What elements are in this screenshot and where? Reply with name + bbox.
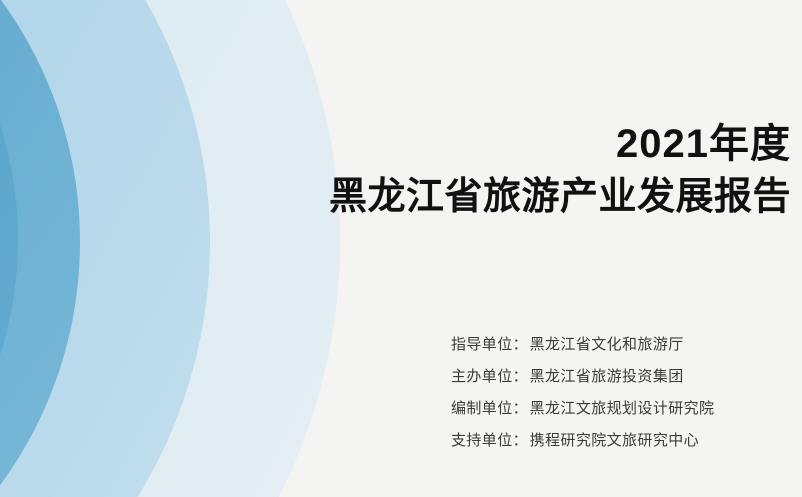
credits-block: 指导单位 ： 黑龙江省文化和旅游厅 主办单位 ： 黑龙江省旅游投资集团 编制单位… <box>451 337 714 448</box>
credit-row-supporter: 支持单位 ： 携程研究院文旅研究中心 <box>451 433 714 448</box>
credit-row-guidance: 指导单位 ： 黑龙江省文化和旅游厅 <box>451 337 714 352</box>
decorative-arc-inner <box>0 0 80 497</box>
credit-colon: ： <box>513 433 528 448</box>
credit-label: 指导单位 <box>451 337 513 352</box>
credit-label: 支持单位 <box>451 433 513 448</box>
report-cover-slide: 2021年度 黑龙江省旅游产业发展报告 指导单位 ： 黑龙江省文化和旅游厅 主办… <box>0 0 802 497</box>
credit-value: 黑龙江省旅游投资集团 <box>530 369 684 384</box>
decorative-arc-middle <box>0 0 210 497</box>
credit-value: 携程研究院文旅研究中心 <box>530 433 699 448</box>
credit-label: 编制单位 <box>451 401 513 416</box>
report-year: 2021年度 <box>329 122 791 167</box>
credit-label: 主办单位 <box>451 369 513 384</box>
credit-row-organizer: 主办单位 ： 黑龙江省旅游投资集团 <box>451 369 714 384</box>
decorative-arc-corner <box>0 0 18 497</box>
credit-colon: ： <box>513 369 528 384</box>
credit-value: 黑龙江省文化和旅游厅 <box>530 337 684 352</box>
credit-value: 黑龙江文旅规划设计研究院 <box>530 401 715 416</box>
credit-colon: ： <box>513 401 528 416</box>
page-title: 黑龙江省旅游产业发展报告 <box>329 173 791 222</box>
credit-row-compiler: 编制单位 ： 黑龙江文旅规划设计研究院 <box>451 401 714 416</box>
decorative-arc-outer <box>0 0 340 497</box>
credit-colon: ： <box>513 337 528 352</box>
title-block: 2021年度 黑龙江省旅游产业发展报告 <box>329 122 791 222</box>
